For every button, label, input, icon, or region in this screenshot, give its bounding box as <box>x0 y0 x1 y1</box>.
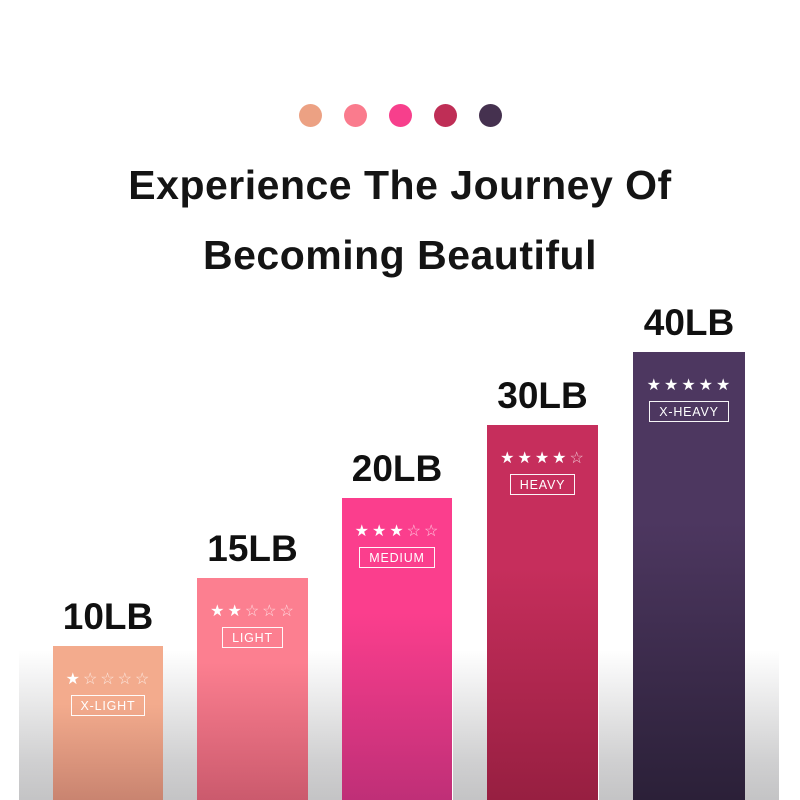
star-filled-icon: ★ <box>210 604 225 620</box>
bar-gap-shadow <box>163 650 197 800</box>
bar-gap-shadow <box>745 650 779 800</box>
star-empty-icon: ☆ <box>100 672 115 688</box>
star-filled-icon: ★ <box>227 604 242 620</box>
bar-column[interactable]: 15LB★★☆☆☆LIGHT <box>197 578 308 800</box>
bar-column[interactable]: 40LB★★★★★X-HEAVY <box>633 352 745 800</box>
star-rating: ★☆☆☆☆ <box>66 672 151 688</box>
star-filled-icon: ★ <box>517 451 532 467</box>
star-empty-icon: ☆ <box>135 672 150 688</box>
bar-rating-block: ★★★★☆HEAVY <box>487 451 598 496</box>
bar-weight-label: 10LB <box>13 598 203 635</box>
bar-gap-shadow <box>19 650 53 800</box>
bar-gap-shadow <box>308 650 342 800</box>
bar-rating-block: ★★★★★X-HEAVY <box>633 378 745 423</box>
star-rating: ★★★★★ <box>647 378 732 394</box>
star-filled-icon: ★ <box>552 451 567 467</box>
resistance-bar-chart: 10LB★☆☆☆☆X-LIGHT15LB★★☆☆☆LIGHT20LB★★★☆☆M… <box>0 0 800 800</box>
bar-column[interactable]: 30LB★★★★☆HEAVY <box>487 425 598 800</box>
star-filled-icon: ★ <box>355 524 370 540</box>
star-filled-icon: ★ <box>535 451 550 467</box>
star-empty-icon: ☆ <box>424 524 439 540</box>
bar-weight-label: 40LB <box>593 304 785 341</box>
bar-rating-block: ★★☆☆☆LIGHT <box>197 604 308 649</box>
star-empty-icon: ☆ <box>280 604 295 620</box>
star-empty-icon: ☆ <box>262 604 277 620</box>
star-empty-icon: ☆ <box>83 672 98 688</box>
bar-gap-shadow <box>453 650 487 800</box>
star-filled-icon: ★ <box>372 524 387 540</box>
tier-badge: LIGHT <box>222 627 283 649</box>
bar-10lb[interactable] <box>53 646 163 800</box>
tier-badge: X-HEAVY <box>649 401 729 423</box>
bar-gap-shadow <box>599 650 633 800</box>
star-filled-icon: ★ <box>664 378 679 394</box>
tier-badge: HEAVY <box>510 474 575 496</box>
star-filled-icon: ★ <box>66 672 81 688</box>
bar-column[interactable]: 10LB★☆☆☆☆X-LIGHT <box>53 646 163 800</box>
star-empty-icon: ☆ <box>245 604 260 620</box>
bar-rating-block: ★★★☆☆MEDIUM <box>342 524 452 569</box>
star-empty-icon: ☆ <box>118 672 133 688</box>
tier-badge: MEDIUM <box>359 547 435 569</box>
star-rating: ★★★★☆ <box>500 451 585 467</box>
tier-badge: X-LIGHT <box>71 695 146 717</box>
bar-weight-label: 15LB <box>157 530 348 567</box>
star-filled-icon: ★ <box>716 378 731 394</box>
star-empty-icon: ☆ <box>570 451 585 467</box>
star-filled-icon: ★ <box>699 378 714 394</box>
star-rating: ★★★☆☆ <box>355 524 440 540</box>
bar-rating-block: ★☆☆☆☆X-LIGHT <box>53 672 163 717</box>
star-empty-icon: ☆ <box>407 524 422 540</box>
star-filled-icon: ★ <box>681 378 696 394</box>
star-rating: ★★☆☆☆ <box>210 604 295 620</box>
bar-weight-label: 30LB <box>447 377 638 414</box>
bar-weight-label: 20LB <box>302 450 492 487</box>
bar-column[interactable]: 20LB★★★☆☆MEDIUM <box>342 498 452 800</box>
promo-graphic: Experience The Journey Of Becoming Beaut… <box>0 0 800 800</box>
star-filled-icon: ★ <box>500 451 515 467</box>
star-filled-icon: ★ <box>647 378 662 394</box>
star-filled-icon: ★ <box>389 524 404 540</box>
